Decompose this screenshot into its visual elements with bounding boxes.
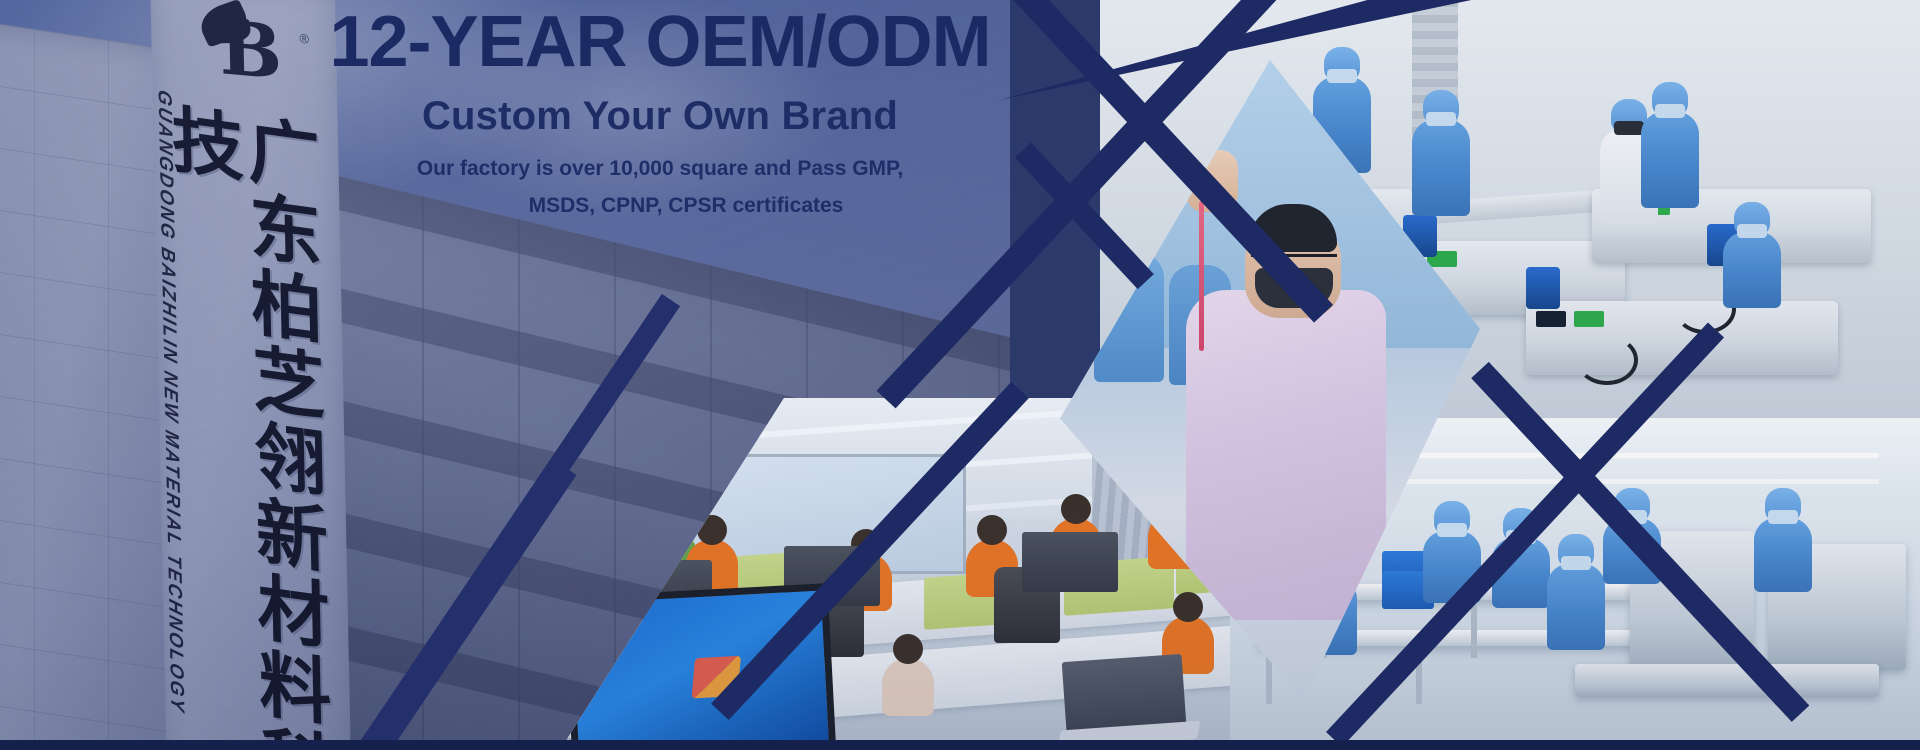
description-line-2: MSDS, CPNP, CPSR certificates xyxy=(352,188,1020,225)
bottom-navy-bar xyxy=(0,740,1920,750)
headline-text-block: 12-YEAR OEM/ODM Custom Your Own Brand Ou… xyxy=(300,0,1020,210)
page-title: 12-YEAR OEM/ODM xyxy=(300,6,1020,78)
promo-banner: B ® GUANGDONG BAIZHILIN NEW MATERIAL TEC… xyxy=(0,0,1920,750)
page-description: Our factory is over 10,000 square and Pa… xyxy=(300,151,1020,225)
page-subtitle: Custom Your Own Brand xyxy=(300,94,1020,139)
description-line-1: Our factory is over 10,000 square and Pa… xyxy=(300,151,1020,188)
